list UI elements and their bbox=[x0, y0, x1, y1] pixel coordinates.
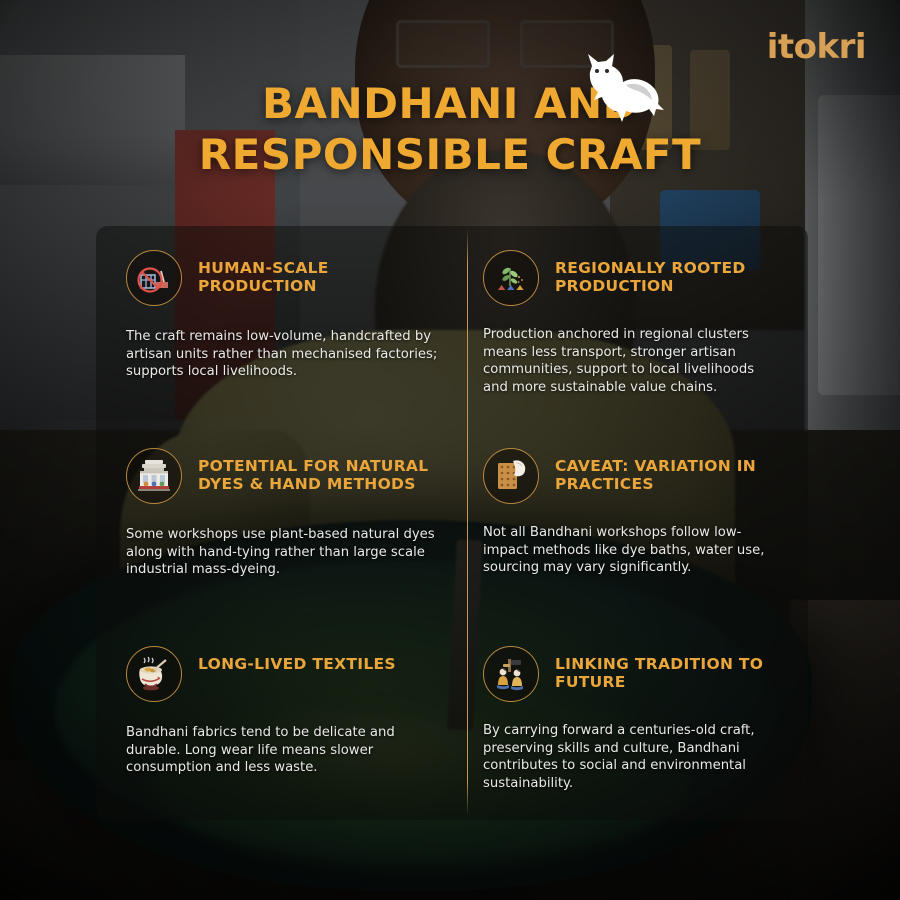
workshop-building-icon bbox=[126, 448, 182, 504]
feature-card-natural-dyes-hand-methods: POTENTIAL FOR NATURAL DYES & HAND METHOD… bbox=[96, 424, 467, 622]
card-body: Some workshops use plant-based natural d… bbox=[126, 526, 441, 579]
card-body: Production anchored in regional clusters… bbox=[483, 326, 782, 397]
sprouting-plant-icon bbox=[483, 250, 539, 306]
infographic-canvas: itokri BANDHANI AND RESPONSIBLE CRAFT bbox=[0, 0, 900, 900]
hand-holding-fabric-icon bbox=[483, 448, 539, 504]
card-body: The craft remains low-volume, handcrafte… bbox=[126, 328, 441, 381]
card-body: Not all Bandhani workshops follow low-im… bbox=[483, 524, 782, 577]
card-body: By carrying forward a centuries-old craf… bbox=[483, 722, 782, 793]
card-title: POTENTIAL FOR NATURAL DYES & HAND METHOD… bbox=[198, 448, 441, 494]
page-title-line-1: BANDHANI AND bbox=[60, 78, 840, 129]
page-title-line-2: RESPONSIBLE CRAFT bbox=[60, 129, 840, 180]
card-header: REGIONALLY ROOTED PRODUCTION bbox=[483, 250, 782, 306]
feature-card-linking-tradition-to-future: LINKING TRADITION TO FUTURE By carrying … bbox=[467, 622, 808, 820]
feature-card-regionally-rooted-production: REGIONALLY ROOTED PRODUCTION Production … bbox=[467, 226, 808, 424]
two-artisans-icon bbox=[483, 646, 539, 702]
page-title: BANDHANI AND RESPONSIBLE CRAFT bbox=[0, 78, 900, 180]
card-title: LONG-LIVED TEXTILES bbox=[198, 646, 396, 673]
card-body: Bandhani fabrics tend to be delicate and… bbox=[126, 724, 441, 777]
card-header: LINKING TRADITION TO FUTURE bbox=[483, 646, 782, 702]
card-title: LINKING TRADITION TO FUTURE bbox=[555, 646, 782, 692]
feature-card-long-lived-textiles: LONG-LIVED TEXTILES Bandhani fabrics ten… bbox=[96, 622, 467, 820]
card-header: LONG-LIVED TEXTILES bbox=[126, 646, 441, 702]
card-title: REGIONALLY ROOTED PRODUCTION bbox=[555, 250, 782, 296]
cat-silhouette-icon bbox=[576, 52, 672, 130]
no-factory-icon bbox=[126, 250, 182, 306]
dye-pot-icon bbox=[126, 646, 182, 702]
card-title: HUMAN-SCALE PRODUCTION bbox=[198, 250, 441, 296]
feature-card-human-scale-production: HUMAN-SCALE PRODUCTION The craft remains… bbox=[96, 226, 467, 424]
content-grid: HUMAN-SCALE PRODUCTION The craft remains… bbox=[96, 226, 808, 820]
card-header: POTENTIAL FOR NATURAL DYES & HAND METHOD… bbox=[126, 448, 441, 504]
feature-card-caveat-variation-in-practices: CAVEAT: VARIATION IN PRACTICES Not all B… bbox=[467, 424, 808, 622]
itokri-logo[interactable]: itokri bbox=[767, 30, 866, 64]
card-header: CAVEAT: VARIATION IN PRACTICES bbox=[483, 448, 782, 504]
card-title: CAVEAT: VARIATION IN PRACTICES bbox=[555, 448, 782, 494]
card-header: HUMAN-SCALE PRODUCTION bbox=[126, 250, 441, 306]
